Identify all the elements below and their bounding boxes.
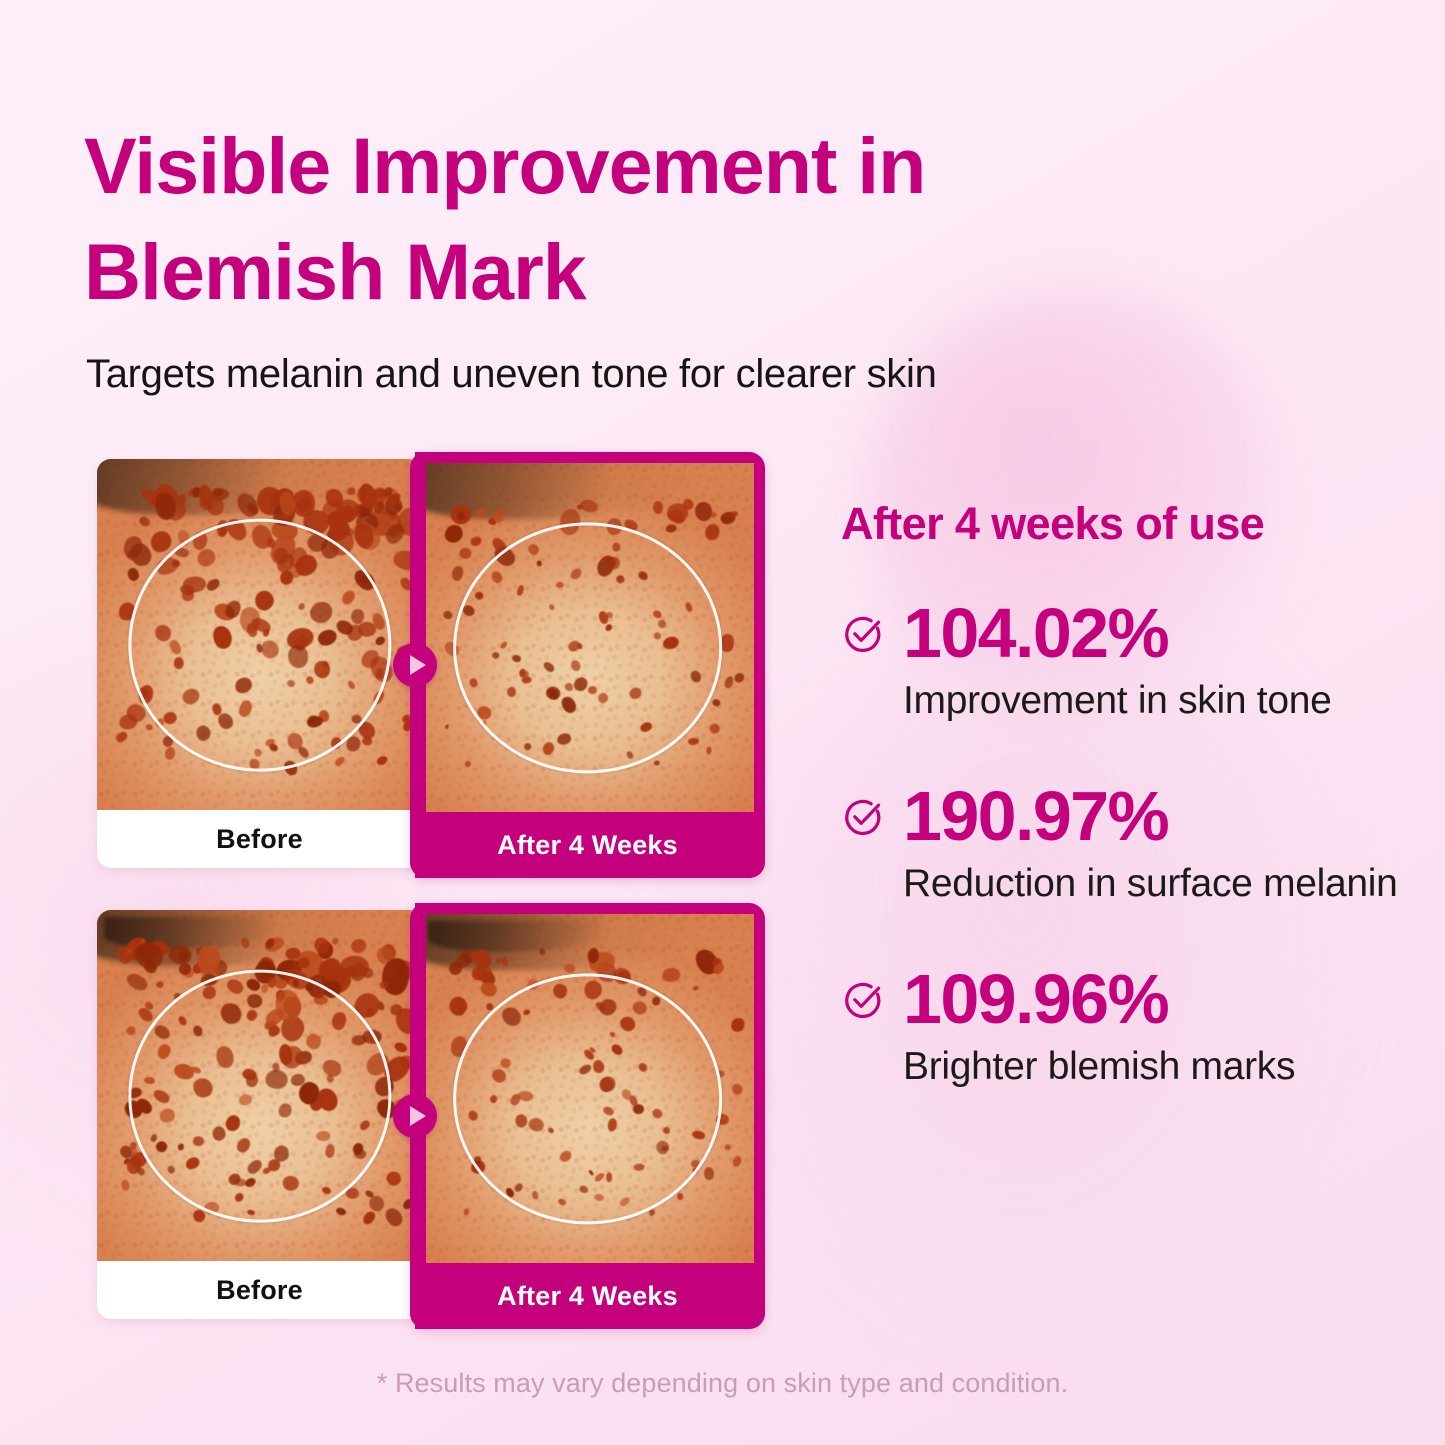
stats-title: After 4 weeks of use [841,498,1401,550]
play-icon[interactable] [393,1094,437,1138]
before-label-strip-2: Before [97,1261,422,1319]
stat-label: Brighter blemish marks [903,1039,1401,1094]
disclaimer: * Results may vary depending on skin typ… [0,1368,1445,1399]
measurement-circle [453,522,723,773]
after-card-2[interactable]: After 4 Weeks [410,903,765,1329]
stat-value: 109.96% [903,964,1401,1035]
stat-value: 104.02% [903,598,1401,669]
play-triangle [410,1106,426,1126]
stat-label: Improvement in skin tone [903,673,1401,728]
before-photo-1 [97,459,422,810]
after-label-1: After 4 Weeks [497,830,678,861]
play-triangle [410,655,426,675]
after-photo-1 [421,463,754,812]
before-label-1: Before [216,824,303,855]
stat-item: 190.97% Reduction in surface melanin [841,781,1401,912]
before-photo-2 [97,910,422,1261]
skin-image-after-2 [421,914,754,1263]
after-label-strip-1: After 4 Weeks [410,812,765,878]
infographic-stage: Visible Improvement in Blemish Mark Targ… [0,0,1445,1445]
skin-image-before-2 [97,910,422,1261]
page-title: Visible Improvement in Blemish Mark [84,113,1114,325]
stat-value: 190.97% [903,781,1401,852]
after-label-2: After 4 Weeks [497,1281,678,1312]
stats-panel: After 4 weeks of use 104.02% Improvement… [841,498,1401,1094]
stat-item: 109.96% Brighter blemish marks [841,964,1401,1095]
stat-label: Reduction in surface melanin [903,856,1401,911]
skin-image-before-1 [97,459,422,810]
stat-item: 104.02% Improvement in skin tone [841,598,1401,729]
before-label-strip-1: Before [97,810,422,868]
after-photo-2 [421,914,754,1263]
skin-image-after-1 [421,463,754,812]
measurement-circle [128,970,391,1223]
check-circle-icon [841,612,885,656]
before-card-1[interactable]: Before [97,459,422,868]
before-card-2[interactable]: Before [97,910,422,1319]
after-label-strip-2: After 4 Weeks [410,1263,765,1329]
check-circle-icon [841,978,885,1022]
measurement-circle [128,519,391,772]
page-subtitle: Targets melanin and uneven tone for clea… [86,348,1186,400]
before-label-2: Before [216,1275,303,1306]
measurement-circle [453,973,723,1224]
check-circle-icon [841,795,885,839]
after-card-1[interactable]: After 4 Weeks [410,452,765,878]
play-icon[interactable] [393,643,437,687]
